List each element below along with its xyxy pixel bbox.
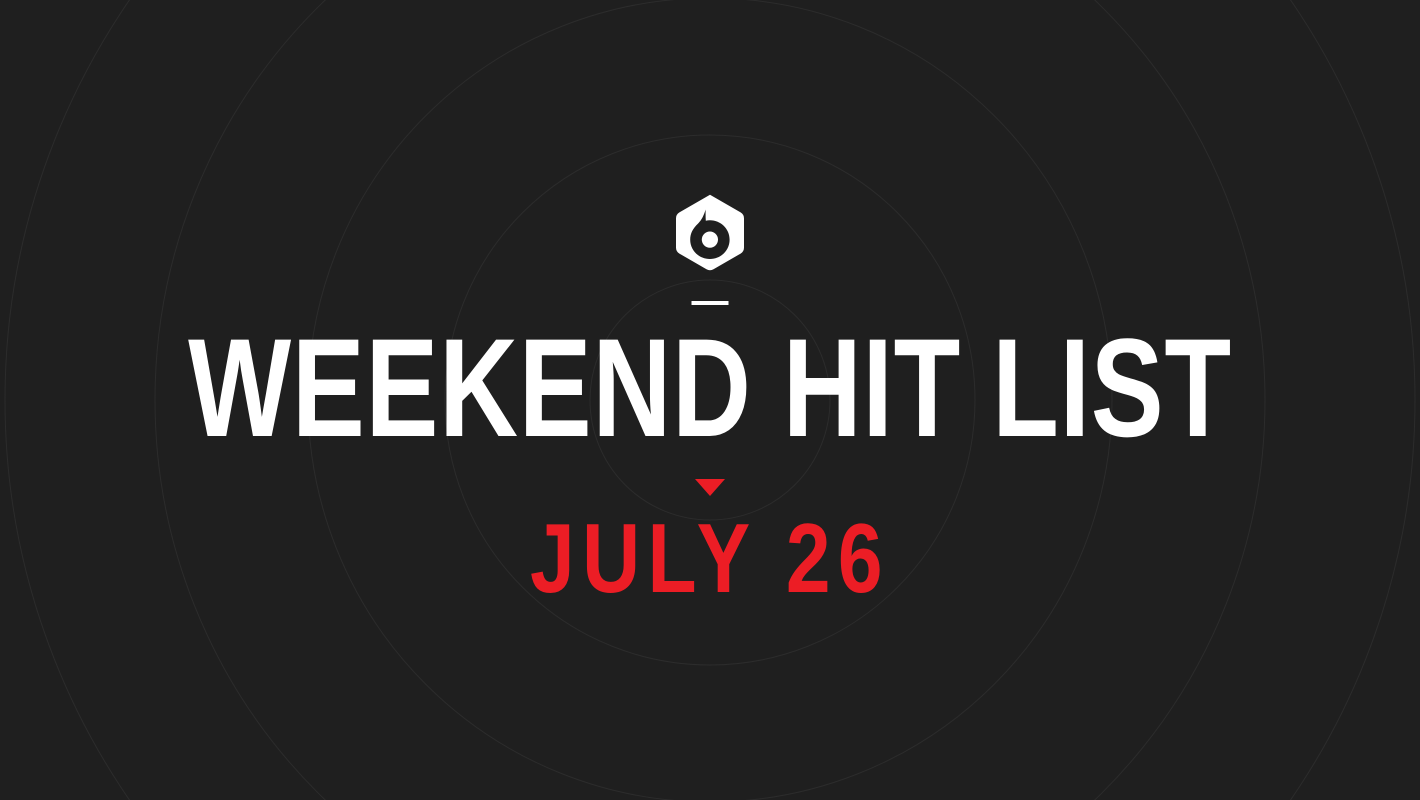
triangle-down-icon xyxy=(695,479,725,496)
page-title: WEEKEND HIT LIST xyxy=(156,318,1264,458)
title-divider xyxy=(692,301,729,305)
hexagon-flame-logo-icon xyxy=(672,193,748,273)
slide-content: WEEKEND HIT LIST JULY 26 xyxy=(0,0,1420,800)
slide-canvas: WEEKEND HIT LIST JULY 26 xyxy=(0,0,1420,800)
brand-logo xyxy=(672,193,748,273)
date-label: JULY 26 xyxy=(128,509,1292,607)
